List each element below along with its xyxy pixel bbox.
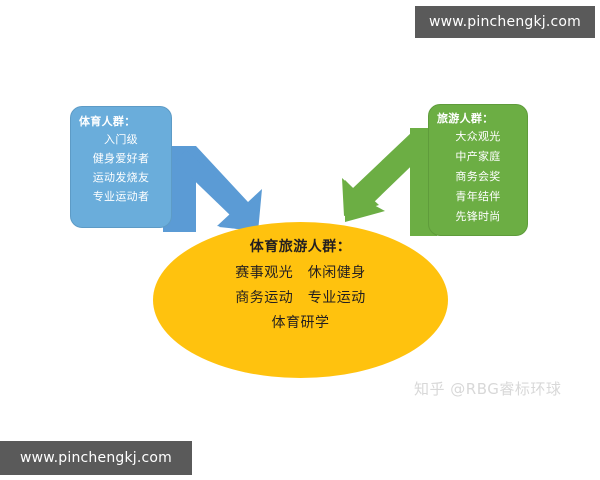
- diagram-canvas: 体育人群： 入门级 健身爱好者 运动发烧友 专业运动者 旅游人群： 大众观光 中…: [0, 0, 600, 480]
- sports-tourism-population-ellipse: 体育旅游人群： 赛事观光 休闲健身 商务运动 专业运动 体育研学: [153, 222, 448, 378]
- tourism-population-item-1: 大众观光: [455, 127, 500, 147]
- tourism-population-box: 旅游人群： 大众观光 中产家庭 商务会奖 青年结伴 先锋时尚: [428, 104, 528, 236]
- sports-population-item-4: 专业运动者: [93, 187, 150, 206]
- watermark-top-right: www.pinchengkj.com: [415, 6, 595, 38]
- tourism-population-title: 旅游人群：: [429, 111, 527, 127]
- sports-population-box: 体育人群： 入门级 健身爱好者 运动发烧友 专业运动者: [70, 106, 172, 228]
- tourism-population-item-4: 青年结伴: [455, 187, 500, 207]
- sports-population-item-2: 健身爱好者: [93, 149, 150, 168]
- tourism-population-item-3: 商务会奖: [455, 167, 500, 187]
- sports-tourism-row-2: 商务运动 专业运动: [235, 286, 366, 311]
- sports-population-item-1: 入门级: [104, 130, 138, 149]
- sports-tourism-row-3: 体育研学: [272, 311, 330, 336]
- green-arrow-down-left: [342, 128, 437, 236]
- sports-population-item-3: 运动发烧友: [93, 168, 150, 187]
- sports-population-title: 体育人群：: [71, 114, 171, 130]
- watermark-zhihu: 知乎 @RBG睿标环球: [414, 378, 561, 399]
- tourism-population-item-2: 中产家庭: [455, 147, 500, 167]
- sports-tourism-row-1: 赛事观光 休闲健身: [235, 261, 366, 286]
- watermark-bottom-left: www.pinchengkj.com: [0, 441, 192, 475]
- blue-arrow-down-right: [163, 146, 262, 232]
- tourism-population-item-5: 先锋时尚: [455, 207, 500, 227]
- sports-tourism-title: 体育旅游人群：: [250, 236, 352, 256]
